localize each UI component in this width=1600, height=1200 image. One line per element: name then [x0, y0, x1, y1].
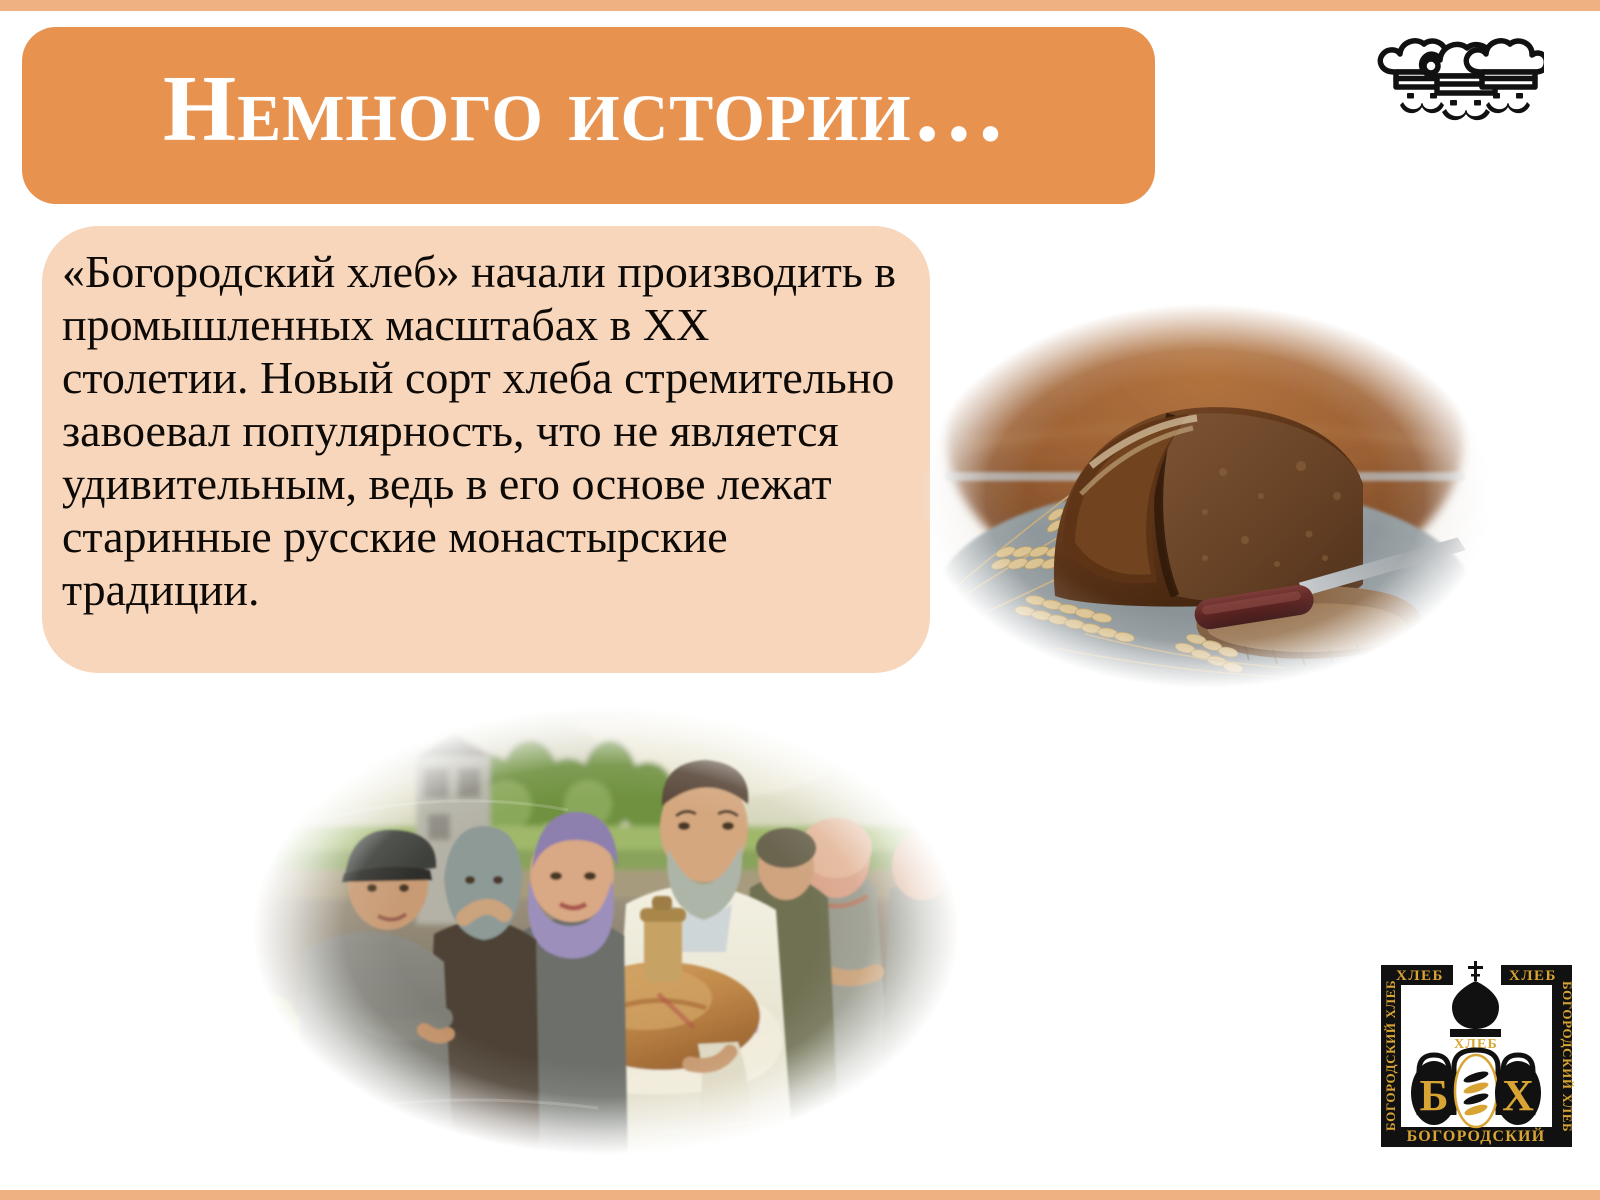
logo-top-left-text: ХЛЕБ	[1396, 968, 1444, 984]
chef-hats-icon	[1374, 26, 1544, 122]
logo-monogram-right: Х	[1502, 1071, 1534, 1120]
rye-bread-photo	[905, 296, 1505, 696]
bottom-accent-bar	[0, 1190, 1600, 1200]
logo-monogram-left: Б	[1419, 1071, 1448, 1120]
slide-root: Немного истории…	[0, 0, 1600, 1200]
logo-left-text: БОГОРОДСКИЙ ХЛЕБ	[1383, 980, 1398, 1131]
bogorodsky-hleb-logo: ХЛЕБ ХЛЕБ БОГОРОДСКИЙ БОГОРОДСКИЙ ХЛЕБ Б…	[1371, 955, 1582, 1156]
logo-top-right-text: ХЛЕБ	[1509, 968, 1557, 984]
body-paragraph: «Богородский хлеб» начали производить в …	[62, 245, 902, 616]
logo-bottom-text: БОГОРОДСКИЙ	[1407, 1126, 1546, 1145]
logo-right-text: БОГОРОДСКИЙ ХЛЕБ	[1560, 981, 1575, 1132]
top-accent-bar	[0, 0, 1600, 11]
page-title: Немного истории…	[163, 57, 1007, 161]
villagers-painting	[238, 698, 974, 1164]
